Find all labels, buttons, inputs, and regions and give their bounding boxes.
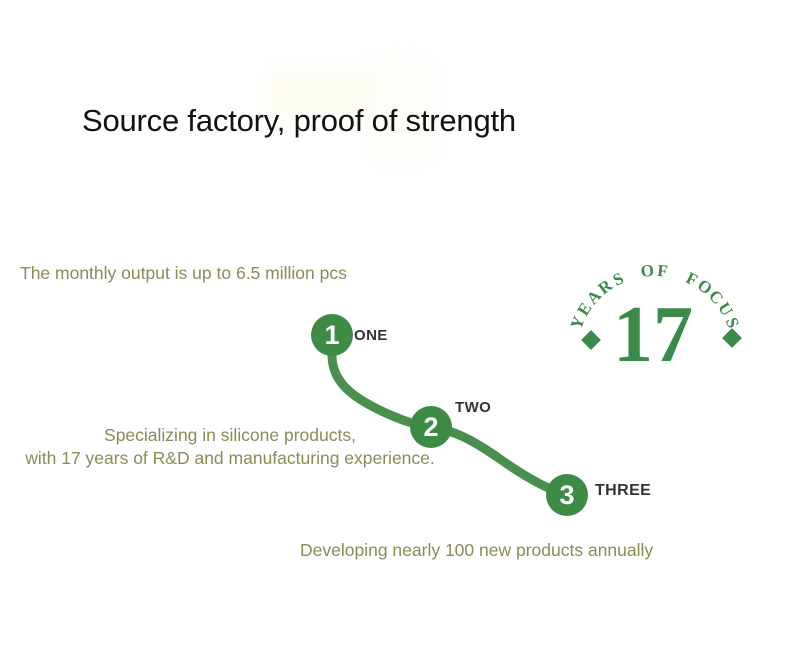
badge-arc-letter: S xyxy=(722,315,743,331)
flow-node-1[interactable]: 1 xyxy=(311,314,353,356)
caption-monthly-output: The monthly output is up to 6.5 million … xyxy=(20,263,347,284)
badge-arc-letter: O xyxy=(640,261,655,281)
years-of-focus-badge: YEARSOFFOCUS 17 YE AR xyxy=(555,236,755,386)
slide-canvas: Source factory, proof of strength The mo… xyxy=(0,0,800,658)
flow-node-1-number: 1 xyxy=(324,320,339,350)
flow-label-one: ONE xyxy=(354,327,388,344)
flow-node-3-circle xyxy=(546,474,588,516)
page-title: Source factory, proof of strength xyxy=(82,103,516,139)
flow-node-3-number: 3 xyxy=(559,480,574,510)
badge-arc-letter: F xyxy=(657,261,669,281)
badge-diamond-right xyxy=(722,328,742,348)
flow-label-two: TWO xyxy=(455,399,491,416)
flow-node-3[interactable]: 3 xyxy=(546,474,588,516)
badge-graphic: YEARSOFFOCUS 17 xyxy=(555,236,755,386)
caption-new-products: Developing nearly 100 new products annua… xyxy=(300,540,653,561)
flow-label-three: THREE xyxy=(595,482,651,500)
flow-node-1-circle xyxy=(311,314,353,356)
badge-number: 17 xyxy=(613,291,693,379)
caption-specialization: Specializing in silicone products, with … xyxy=(0,424,460,470)
badge-diamond-left xyxy=(581,330,601,350)
caption-specialization-line2: with 17 years of R&D and manufacturing e… xyxy=(0,447,460,470)
caption-specialization-line1: Specializing in silicone products, xyxy=(0,424,460,447)
